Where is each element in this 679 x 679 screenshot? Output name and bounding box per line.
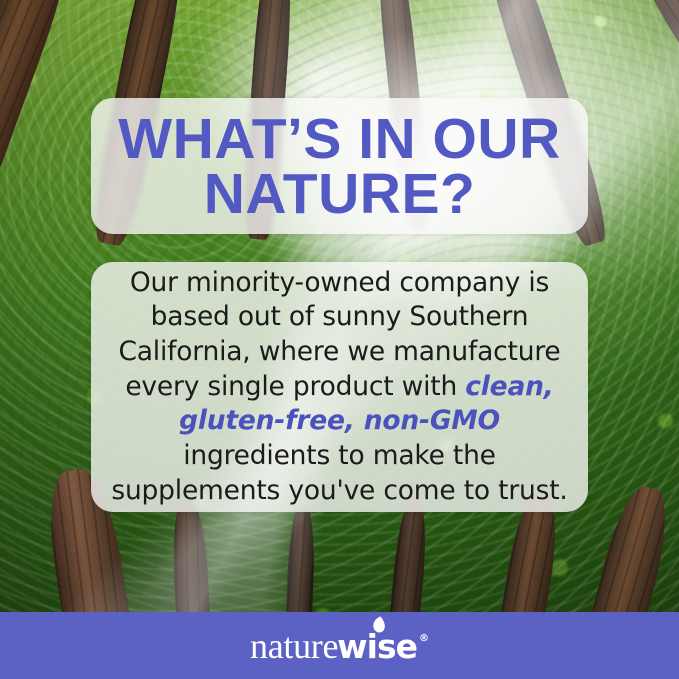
body-paragraph: Our minority-owned company is based out …: [109, 266, 570, 509]
naturewise-logo: naturewise®: [250, 628, 429, 664]
brand-footer-bar: naturewise®: [0, 612, 679, 679]
body-text-part-two: ingredients to make the supplements you'…: [111, 440, 567, 506]
registered-trademark-symbol: ®: [419, 634, 429, 644]
page-title: WHAT’S IN OUR NATURE?: [117, 112, 562, 223]
body-card: Our minority-owned company is based out …: [91, 262, 588, 512]
headline-card: WHAT’S IN OUR NATURE?: [91, 98, 588, 234]
marketing-image: WHAT’S IN OUR NATURE? Our minority-owned…: [0, 0, 679, 679]
logo-text-nature: nature: [250, 628, 338, 664]
leaf-icon: [371, 616, 386, 635]
